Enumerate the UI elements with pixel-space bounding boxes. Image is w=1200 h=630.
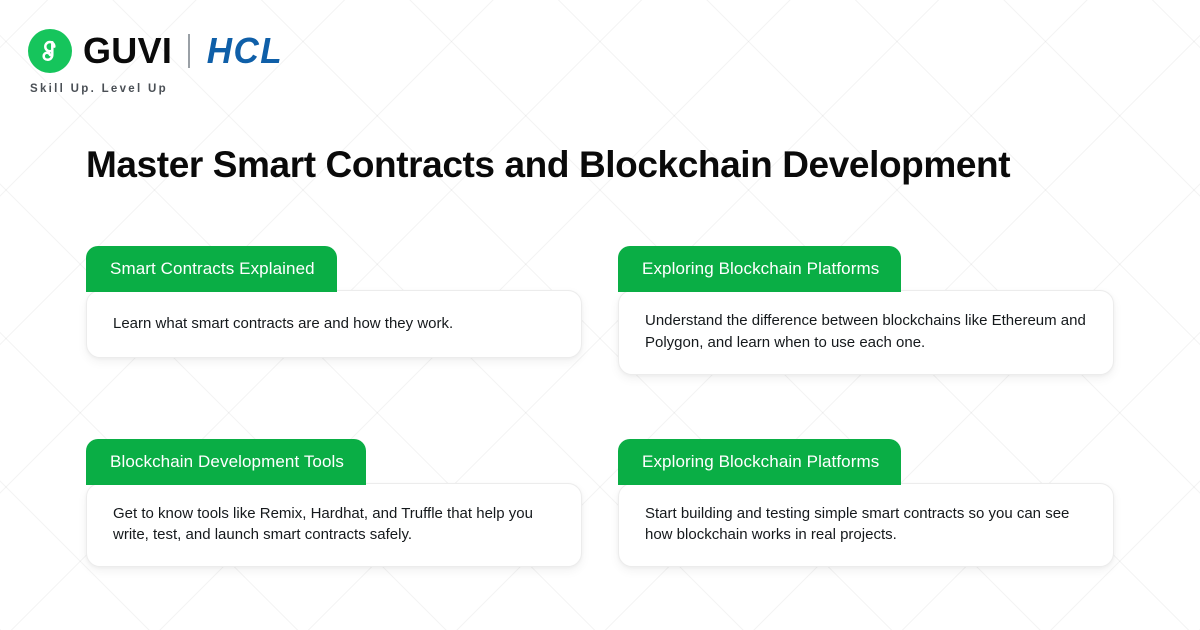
topic-card-title: Exploring Blockchain Platforms [618, 439, 901, 485]
topic-card-title: Blockchain Development Tools [86, 439, 366, 485]
brand-logo-row: GUVI HCL [28, 28, 548, 74]
topic-card-text: Understand the difference between blockc… [645, 310, 1087, 354]
brand-divider [188, 34, 190, 68]
topic-card: Exploring Blockchain Platforms Understan… [618, 246, 1114, 375]
topic-card-body: Get to know tools like Remix, Hardhat, a… [86, 483, 582, 568]
topic-card-text: Get to know tools like Remix, Hardhat, a… [113, 503, 555, 547]
topic-card-title: Exploring Blockchain Platforms [618, 246, 901, 292]
brand-tagline: Skill Up. Level Up [30, 83, 548, 95]
guvi-g-mark-icon [28, 29, 72, 73]
hcl-wordmark: HCL [207, 33, 283, 69]
topic-card-text: Learn what smart contracts are and how t… [113, 313, 453, 335]
topic-card-body: Start building and testing simple smart … [618, 483, 1114, 568]
topic-card-body: Learn what smart contracts are and how t… [86, 290, 582, 358]
topic-card-title: Smart Contracts Explained [86, 246, 337, 292]
guvi-wordmark: GUVI [83, 33, 172, 69]
topic-card-body: Understand the difference between blockc… [618, 290, 1114, 375]
topic-card: Blockchain Development Tools Get to know… [86, 439, 582, 568]
page-title: Master Smart Contracts and Blockchain De… [86, 144, 1146, 187]
topic-card-text: Start building and testing simple smart … [645, 503, 1087, 547]
topic-card-grid: Smart Contracts Explained Learn what sma… [86, 246, 1114, 567]
brand-bar: GUVI HCL Skill Up. Level Up [28, 28, 548, 95]
topic-card: Exploring Blockchain Platforms Start bui… [618, 439, 1114, 568]
topic-card: Smart Contracts Explained Learn what sma… [86, 246, 582, 375]
